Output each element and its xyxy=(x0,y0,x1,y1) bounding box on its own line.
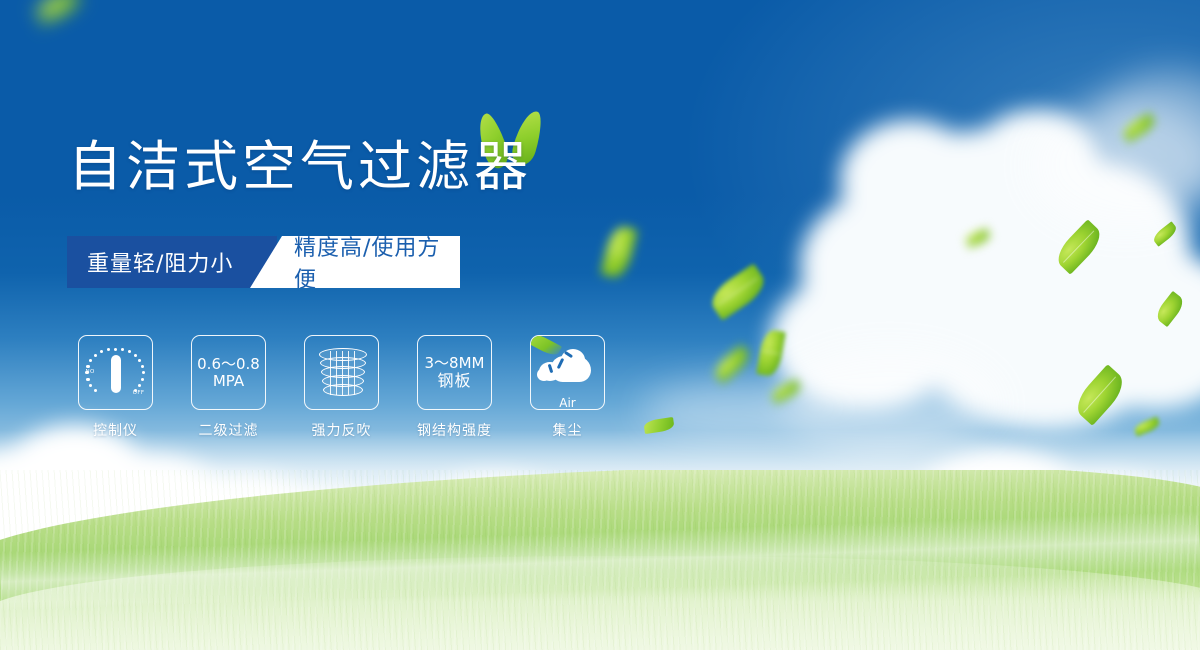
feature-item-control-instrument[interactable]: NO OFF 控制仪 xyxy=(78,335,153,440)
feature-icon-box: NO OFF xyxy=(78,335,153,410)
filter-coil-icon xyxy=(319,348,365,398)
feature-icon-box xyxy=(304,335,379,410)
feature-label: 控制仪 xyxy=(93,420,138,440)
product-banner: 自洁式空气过滤器 重量轻/阻力小 精度高/使用方便 xyxy=(0,0,1200,650)
air-label: Air xyxy=(537,396,599,410)
tagline-right-text: 精度高/使用方便 xyxy=(250,230,460,294)
tagline-left-box: 重量轻/阻力小 xyxy=(67,236,277,288)
cumulus-cloud-top-right xyxy=(940,60,1200,240)
feature-label: 钢结构强度 xyxy=(417,420,492,440)
grass-field xyxy=(0,470,1200,650)
tagline-left-text: 重量轻/阻力小 xyxy=(67,246,233,278)
tagline-group: 重量轻/阻力小 精度高/使用方便 xyxy=(67,236,460,288)
steel-thickness-line2: 钢板 xyxy=(437,372,471,390)
leaf-icon xyxy=(530,335,562,358)
gauge-icon: NO OFF xyxy=(87,344,145,402)
feature-icon-box: 0.6～0.8 MPA xyxy=(191,335,266,410)
pressure-value-line1: 0.6～0.8 xyxy=(197,356,260,373)
pressure-value-line2: MPA xyxy=(213,373,244,390)
page-title: 自洁式空气过滤器 xyxy=(68,140,532,194)
feature-item-two-stage-filtration[interactable]: 0.6～0.8 MPA 二级过滤 xyxy=(191,335,266,440)
tagline-right-box: 精度高/使用方便 xyxy=(250,236,460,288)
gauge-label-no: NO xyxy=(86,369,95,375)
feature-label: 集尘 xyxy=(553,420,583,440)
feature-icon-box: Air xyxy=(530,335,605,410)
feature-item-strong-backblow[interactable]: 强力反吹 xyxy=(304,335,379,440)
steel-thickness-line1: 3～8MM xyxy=(425,355,485,372)
feature-label: 强力反吹 xyxy=(312,420,372,440)
feature-item-dust-collection[interactable]: Air 集尘 xyxy=(530,335,605,440)
feature-icon-box: 3～8MM 钢板 xyxy=(417,335,492,410)
cloud-air-icon: Air xyxy=(537,348,599,398)
gauge-needle xyxy=(111,355,121,393)
feature-item-steel-structure-strength[interactable]: 3～8MM 钢板 钢结构强度 xyxy=(417,335,492,440)
gauge-label-off: OFF xyxy=(133,390,145,396)
feature-label: 二级过滤 xyxy=(199,420,259,440)
feature-list: NO OFF 控制仪 0.6～0.8 MPA 二级过滤 xyxy=(78,335,605,440)
